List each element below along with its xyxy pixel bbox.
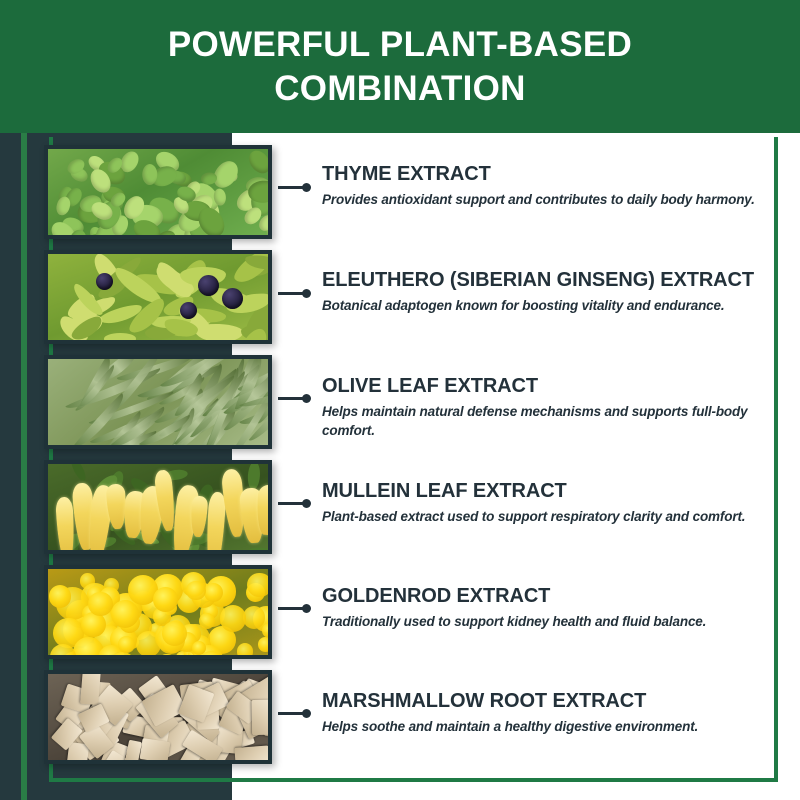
ingredient-description: Provides antioxidant support and contrib… bbox=[322, 191, 774, 209]
goldenrod-flower-photo bbox=[44, 565, 272, 659]
ingredient-text: ELEUTHERO (SIBERIAN GINSENG) EXTRACT Bot… bbox=[322, 269, 774, 316]
photo-artwork bbox=[48, 254, 268, 340]
ingredient-description: Plant-based extract used to support resp… bbox=[322, 508, 774, 526]
connector-dot bbox=[302, 499, 311, 508]
photo-artwork bbox=[48, 674, 268, 760]
ingredient-text: MULLEIN LEAF EXTRACT Plant-based extract… bbox=[322, 480, 774, 527]
photo-artwork bbox=[48, 464, 268, 550]
connector-dot bbox=[302, 183, 311, 192]
ingredient-list: THYME EXTRACT Provides antioxidant suppo… bbox=[0, 133, 800, 800]
ingredient-description: Helps soothe and maintain a healthy dige… bbox=[322, 718, 774, 736]
page-title: POWERFUL PLANT-BASED COMBINATION bbox=[80, 23, 720, 110]
ingredient-description: Helps maintain natural defense mechanism… bbox=[322, 403, 774, 439]
ingredient-title: OLIVE LEAF EXTRACT bbox=[322, 375, 774, 398]
connector-stem bbox=[278, 502, 304, 505]
connector-stem bbox=[278, 292, 304, 295]
photo-artwork bbox=[48, 149, 268, 235]
photo-artwork bbox=[48, 359, 268, 445]
connector-dot bbox=[302, 394, 311, 403]
connector-dot bbox=[302, 604, 311, 613]
ingredient-text: GOLDENROD EXTRACT Traditionally used to … bbox=[322, 585, 774, 632]
connector-dot bbox=[302, 289, 311, 298]
ingredient-title: MULLEIN LEAF EXTRACT bbox=[322, 480, 774, 503]
thyme-plant-photo bbox=[44, 145, 272, 239]
ingredient-title: MARSHMALLOW ROOT EXTRACT bbox=[322, 690, 774, 713]
photo-artwork bbox=[48, 569, 268, 655]
infographic-root: POWERFUL PLANT-BASED COMBINATION THYME E… bbox=[0, 0, 800, 800]
ingredient-text: OLIVE LEAF EXTRACT Helps maintain natura… bbox=[322, 375, 774, 440]
connector-line bbox=[278, 393, 312, 403]
connector-line bbox=[278, 288, 312, 298]
olive-leaf-photo bbox=[44, 355, 272, 449]
ingredient-description: Traditionally used to support kidney hea… bbox=[322, 613, 774, 631]
connector-stem bbox=[278, 607, 304, 610]
connector-stem bbox=[278, 186, 304, 189]
connector-line bbox=[278, 498, 312, 508]
marshmallow-root-photo bbox=[44, 670, 272, 764]
connector-stem bbox=[278, 712, 304, 715]
ingredient-text: THYME EXTRACT Provides antioxidant suppo… bbox=[322, 163, 774, 210]
ingredient-text: MARSHMALLOW ROOT EXTRACT Helps soothe an… bbox=[322, 690, 774, 737]
connector-stem bbox=[278, 397, 304, 400]
ingredient-title: ELEUTHERO (SIBERIAN GINSENG) EXTRACT bbox=[322, 269, 774, 292]
connector-line bbox=[278, 708, 312, 718]
eleuthero-plant-photo bbox=[44, 250, 272, 344]
connector-line bbox=[278, 182, 312, 192]
connector-dot bbox=[302, 709, 311, 718]
ingredient-title: THYME EXTRACT bbox=[322, 163, 774, 186]
header-band: POWERFUL PLANT-BASED COMBINATION bbox=[0, 0, 800, 133]
ingredient-description: Botanical adaptogen known for boosting v… bbox=[322, 297, 774, 315]
ingredient-title: GOLDENROD EXTRACT bbox=[322, 585, 774, 608]
mullein-plant-photo bbox=[44, 460, 272, 554]
connector-line bbox=[278, 603, 312, 613]
